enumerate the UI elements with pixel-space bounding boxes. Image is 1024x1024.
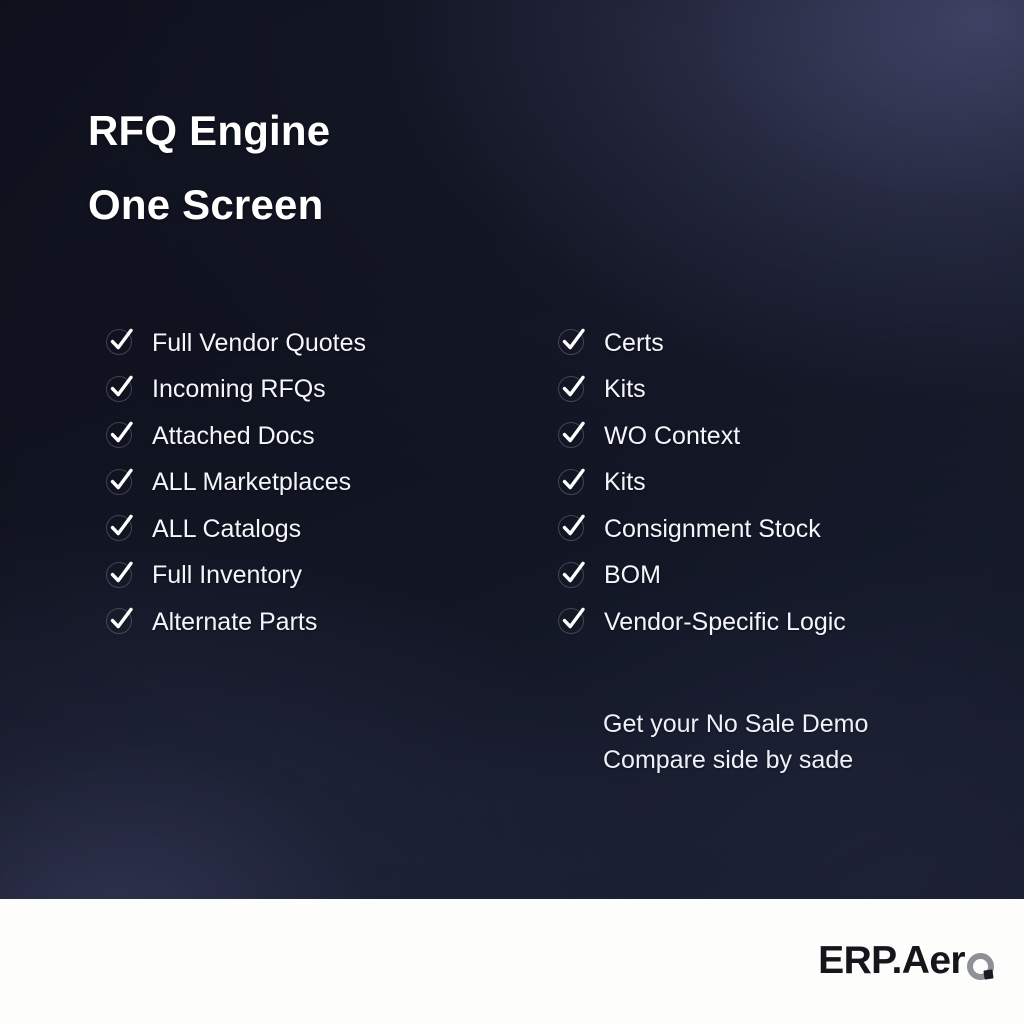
footer-bar: ERP.Aer [0, 899, 1024, 1024]
checklist-item-label: Full Inventory [152, 563, 302, 588]
headline-line-1: RFQ Engine [88, 94, 330, 168]
check-circle-icon [557, 468, 587, 498]
checklist-item-label: Full Vendor Quotes [152, 331, 366, 356]
checklist-item-label: Kits [604, 377, 646, 402]
checklist-item-label: Incoming RFQs [152, 377, 326, 402]
check-circle-icon [557, 514, 587, 544]
checklist-item: Kits [557, 367, 846, 414]
checklist-item: Vendor-Specific Logic [557, 599, 846, 646]
checklist-item: Certs [557, 320, 846, 367]
checklist-item-label: Alternate Parts [152, 610, 317, 635]
checklist-item-label: Certs [604, 331, 664, 356]
checklist-item-label: Consignment Stock [604, 517, 821, 542]
cta-line-1: Get your No Sale Demo [603, 706, 868, 742]
checklist-item-label: ALL Marketplaces [152, 470, 351, 495]
checklist-item: BOM [557, 553, 846, 600]
checklist-item: Incoming RFQs [105, 367, 366, 414]
check-circle-icon [557, 375, 587, 405]
checklist-item-label: Kits [604, 470, 646, 495]
feature-list-right: CertsKitsWO ContextKitsConsignment Stock… [557, 320, 846, 646]
check-circle-icon [557, 328, 587, 358]
check-circle-icon [105, 514, 135, 544]
checklist-item: Full Vendor Quotes [105, 320, 366, 367]
checklist-item: Consignment Stock [557, 506, 846, 553]
checklist-item-label: BOM [604, 563, 661, 588]
ring-o-notch [983, 969, 993, 979]
check-circle-icon [105, 607, 135, 637]
page-title: RFQ Engine One Screen [88, 94, 330, 242]
headline-line-2: One Screen [88, 168, 330, 242]
check-circle-icon [105, 328, 135, 358]
check-circle-icon [105, 468, 135, 498]
check-circle-icon [557, 607, 587, 637]
hero-section: RFQ Engine One Screen Full Vendor Quotes… [0, 0, 1024, 899]
checklist-item: Kits [557, 460, 846, 507]
checklist-item-label: Attached Docs [152, 424, 315, 449]
cta-line-2: Compare side by sade [603, 742, 868, 778]
checklist-item: ALL Marketplaces [105, 460, 366, 507]
ring-o-icon [967, 953, 994, 980]
checklist-item: Full Inventory [105, 553, 366, 600]
check-circle-icon [105, 561, 135, 591]
check-circle-icon [105, 421, 135, 451]
checklist-item-label: WO Context [604, 424, 740, 449]
poster-canvas: RFQ Engine One Screen Full Vendor Quotes… [0, 0, 1024, 1024]
check-circle-icon [557, 421, 587, 451]
feature-list-left: Full Vendor QuotesIncoming RFQsAttached … [105, 320, 366, 646]
checklist-item: Attached Docs [105, 413, 366, 460]
cta-text: Get your No Sale Demo Compare side by sa… [603, 706, 868, 778]
checklist-item: WO Context [557, 413, 846, 460]
checklist-item-label: ALL Catalogs [152, 517, 301, 542]
brand-logo: ERP.Aer [818, 939, 994, 983]
check-circle-icon [557, 561, 587, 591]
checklist-item: ALL Catalogs [105, 506, 366, 553]
checklist-item-label: Vendor-Specific Logic [604, 610, 846, 635]
brand-logo-text: ERP.Aer [818, 939, 965, 983]
checklist-item: Alternate Parts [105, 599, 366, 646]
check-circle-icon [105, 375, 135, 405]
